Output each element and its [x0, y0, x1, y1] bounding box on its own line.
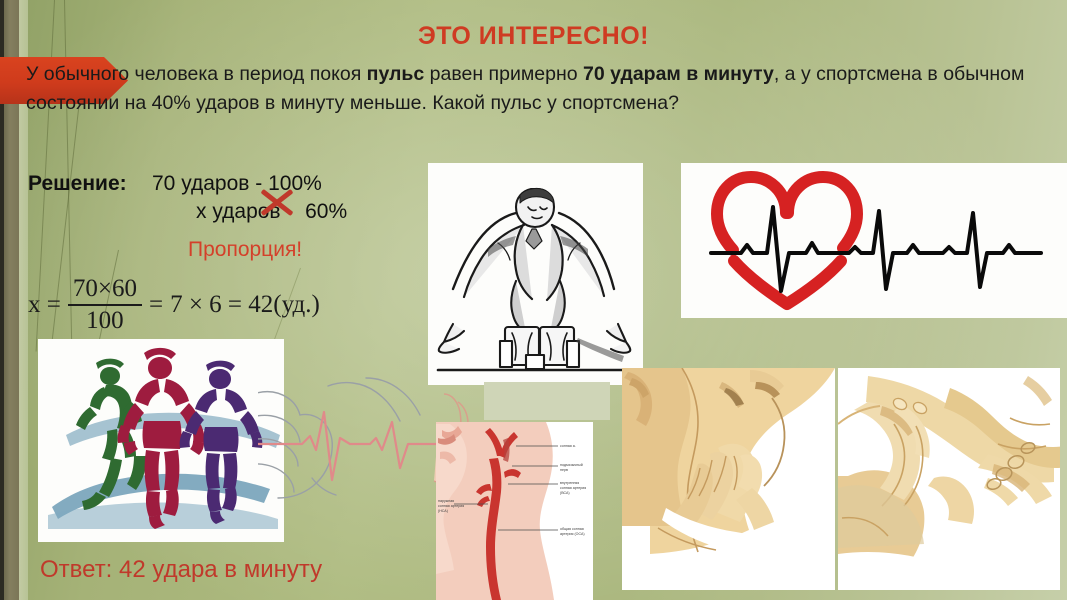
- fingers-on-neck-pulse-icon: [622, 368, 835, 590]
- problem-statement: У обычного человека в период покоя пульс…: [26, 60, 1056, 118]
- svg-text:внутренняя: внутренняя: [560, 481, 579, 485]
- fraction-bar: [68, 304, 142, 306]
- neck-anatomy-image-panel: сонная а. подъязычный нерв внутренняя со…: [436, 422, 593, 600]
- slide-title: ЭТО ИНТЕРЕСНО!: [0, 22, 1067, 51]
- svg-text:артерия (ОСА): артерия (ОСА): [560, 532, 585, 536]
- svg-text:наружная: наружная: [438, 499, 454, 503]
- svg-text:(ВСА): (ВСА): [560, 491, 570, 495]
- proportion-note: Пропорция!: [188, 238, 302, 262]
- svg-text:подъязычный: подъязычный: [560, 463, 583, 467]
- svg-text:(НСА): (НСА): [438, 509, 448, 513]
- runners-icon: [38, 339, 284, 542]
- problem-bold-pulse: пульс: [367, 63, 425, 85]
- formula-denominator: 100: [81, 308, 129, 334]
- solution-line-1: 70 ударов - 100%: [152, 172, 322, 196]
- formula-lhs: х =: [28, 291, 61, 319]
- problem-text-1: У обычного человека в период покоя: [26, 63, 367, 85]
- sprinter-image-panel: [428, 163, 643, 385]
- svg-text:сонная а.: сонная а.: [560, 444, 576, 448]
- slide-canvas: ЭТО ИНТЕРЕСНО! У обычного человека в пер…: [0, 0, 1067, 600]
- svg-text:нерв: нерв: [560, 468, 568, 472]
- blank-placeholder-panel: [484, 382, 610, 420]
- heart-ecg-icon: [681, 163, 1067, 318]
- formula-fraction: 70×60 100: [68, 276, 142, 335]
- formula-numerator: 70×60: [68, 276, 142, 302]
- svg-text:сонная артерия: сонная артерия: [438, 504, 464, 508]
- solution-label: Решение:: [28, 172, 127, 196]
- runners-image-panel: [38, 339, 284, 542]
- formula-rhs: 7 × 6 = 42(уд.): [170, 291, 320, 319]
- problem-bold-bpm: 70 ударам в минуту: [583, 63, 774, 85]
- cross-multiplication-mark: [258, 185, 294, 219]
- heart-ecg-image-panel: [681, 163, 1067, 318]
- formula-equals: =: [149, 291, 163, 319]
- problem-text-2: равен примерно: [424, 63, 583, 85]
- neck-carotid-diagram-icon: сонная а. подъязычный нерв внутренняя со…: [436, 422, 593, 600]
- sprinter-icon: [428, 163, 643, 385]
- neck-pulse-image-panel: [622, 368, 835, 590]
- wrist-pulse-image-panel: [838, 368, 1060, 590]
- solution-formula: х = 70×60 100 = 7 × 6 = 42(уд.): [28, 276, 320, 335]
- answer-text: Ответ: 42 удара в минуту: [40, 556, 322, 584]
- svg-text:общая сонная: общая сонная: [560, 527, 584, 531]
- fingers-on-wrist-pulse-icon: [838, 368, 1060, 590]
- svg-text:сонная артерия: сонная артерия: [560, 486, 586, 490]
